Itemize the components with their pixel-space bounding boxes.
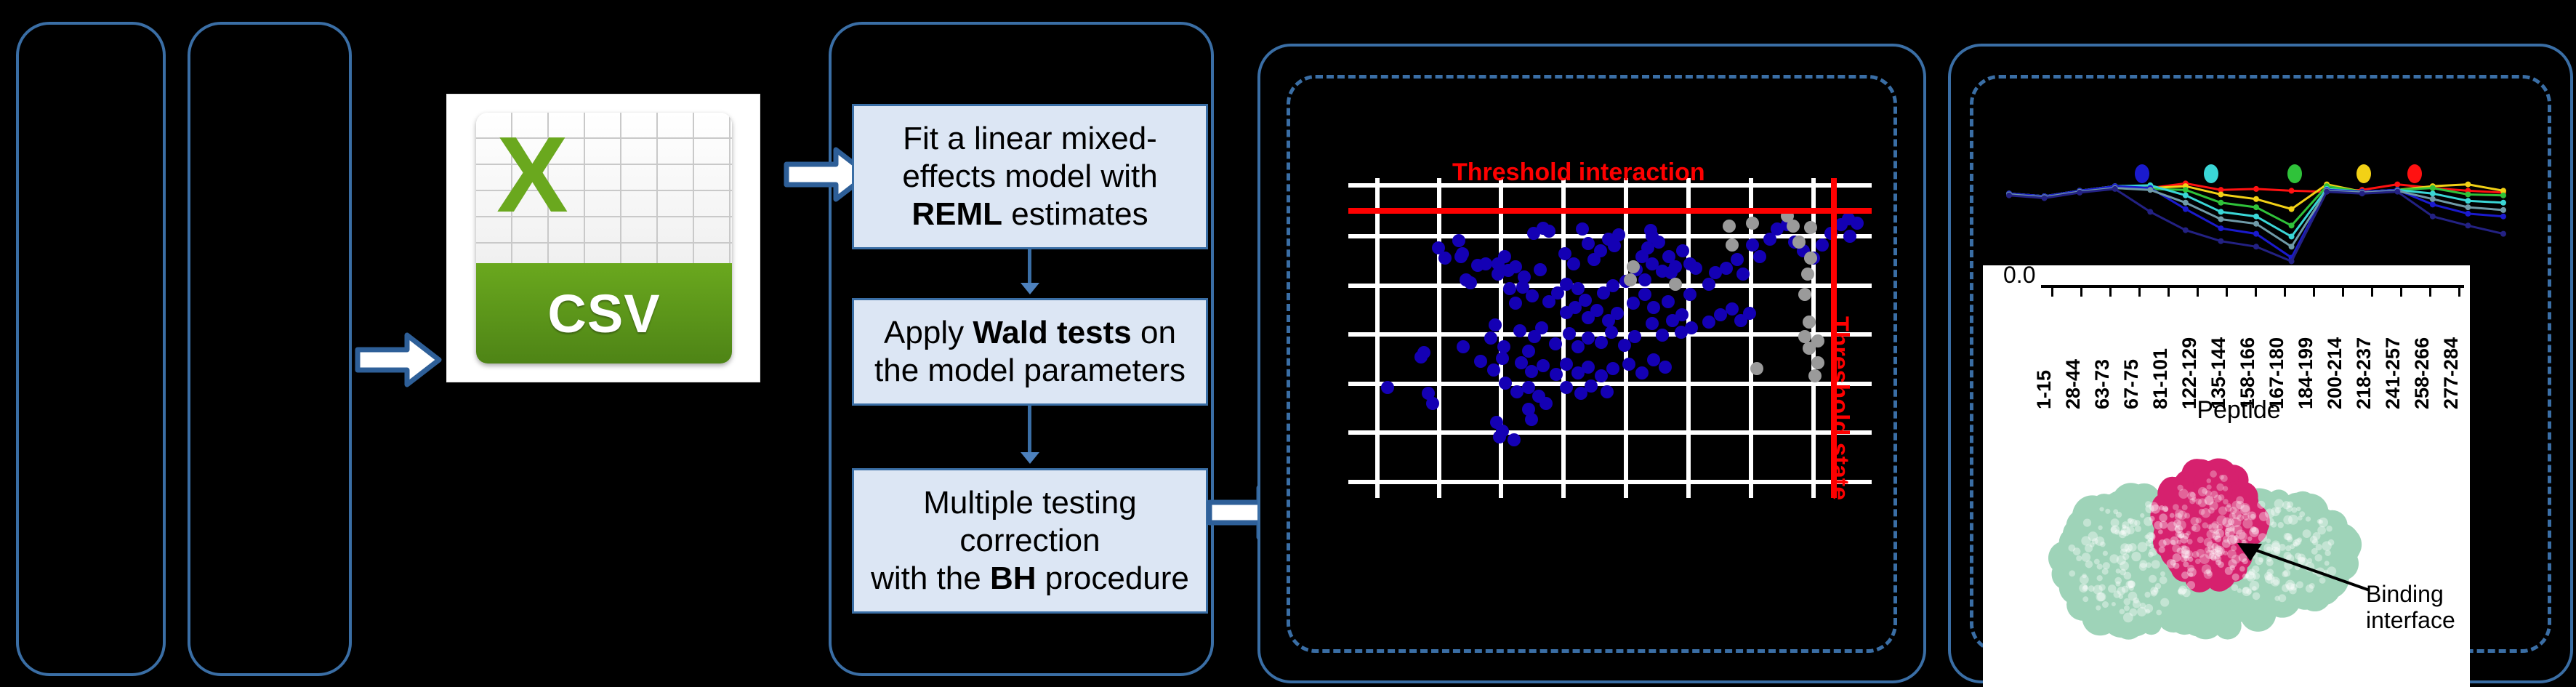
series-point [2465,204,2471,210]
series-point [2253,214,2259,220]
surface-blob [2103,562,2110,569]
peptide-tick-label: 277-284 [2440,337,2463,409]
axis-tick [2400,288,2402,297]
surface-blob [2236,530,2246,540]
surface-blob [2154,521,2162,530]
surface-blob [2082,596,2088,602]
surface-blob [2258,533,2267,542]
surface-blob [2180,546,2184,550]
surface-blob [2096,606,2101,611]
surface-blob [2097,592,2106,601]
axis-tick [2429,288,2431,297]
axis-tick [2168,288,2170,297]
surface-blob [2288,515,2298,525]
series-point [2183,187,2189,193]
y-axis-tick-label: 0.0 [2003,262,2035,289]
series-point [2218,216,2223,222]
surface-blob [2215,545,2222,553]
surface-blob [2266,575,2272,581]
surface-blob [2094,559,2100,565]
surface-blob [2266,518,2274,526]
surface-blob [2231,555,2241,564]
surface-blob [2253,592,2261,600]
surface-blob [2225,528,2231,534]
surface-blob [2246,571,2255,581]
series-point [2430,190,2436,196]
series-point [2183,228,2189,233]
surface-blob [2173,504,2179,510]
surface-blob [2285,545,2291,551]
peptide-axis-ticks [2041,288,2464,298]
axis-tick [2138,288,2141,297]
series-point [2218,225,2223,231]
surface-blob [2223,486,2228,491]
step-fit-model-box[interactable]: Fit a linear mixed- effects model with R… [852,104,1208,249]
surface-blob [2242,518,2253,529]
surface-blob [2298,579,2331,611]
surface-blob [2149,544,2154,548]
series-point [2394,189,2400,195]
csv-file-icon: X CSV [476,113,732,363]
surface-blob [2204,570,2213,579]
surface-blob [2274,499,2284,508]
surface-blob [2218,507,2227,515]
series-point [2500,200,2506,206]
surface-blob [2196,518,2202,523]
surface-blob [2202,522,2208,529]
surface-blob [2207,485,2212,490]
surface-blob [2199,509,2205,515]
series-point [2359,190,2365,196]
surface-blob [2187,565,2194,572]
step-multiple-testing-text: Multiple testing correction with the BH … [871,484,1189,598]
series-point [2289,258,2295,264]
surface-blob [2223,499,2229,505]
series-point [2500,231,2506,237]
surface-blob [2184,513,2190,518]
axis-tick [2255,288,2257,297]
surface-blob [2139,560,2147,568]
surface-blob [2138,542,2148,553]
surface-blob [2088,531,2098,541]
series-point [2289,206,2295,212]
surface-blob [2197,537,2204,543]
surface-blob [2182,505,2188,510]
surface-blob [2127,526,2135,534]
series-point [2218,191,2223,197]
surface-blob [2293,539,2300,547]
series-point [2112,186,2118,192]
series-point [2218,200,2223,206]
series-point [2183,193,2189,198]
peptide-tick-label: 241-257 [2382,337,2404,409]
surface-blob [2128,581,2135,588]
connector-arrowhead-bh [1021,452,1039,464]
surface-blob [2241,606,2261,626]
surface-blob [2075,578,2113,616]
surface-blob [2278,522,2284,528]
surface-blob [2198,498,2207,507]
series-point [2253,231,2259,237]
surface-blob [2246,589,2252,595]
surface-blob [2082,585,2088,591]
surface-blob [2122,524,2126,529]
series-point [2500,207,2506,213]
protein-peptide-surface-render [2028,436,2406,654]
axis-tick [2284,288,2286,297]
surface-blob [2102,601,2109,608]
surface-blob [2072,497,2112,536]
panel-1-empty[interactable] [16,22,166,676]
surface-blob [2190,492,2196,498]
surface-blob [2149,575,2157,583]
series-point [2289,222,2295,228]
axis-tick [2226,288,2228,297]
surface-blob [2144,592,2150,598]
surface-blob [2163,538,2170,545]
surface-blob [2247,537,2252,541]
surface-blob [2210,470,2217,478]
legend-dot-series-green [2287,164,2302,183]
peptide-tick-label: 258-266 [2411,337,2434,409]
surface-blob [2187,539,2193,545]
surface-blob [2123,612,2133,622]
series-point [2289,233,2295,239]
surface-blob [2173,563,2180,569]
surface-blob [2100,542,2106,547]
surface-blob [2250,581,2260,591]
surface-blob [2295,553,2301,559]
surface-blob [2229,507,2237,514]
series-point [2289,188,2295,193]
legend-dot-series-blue [2135,164,2149,183]
surface-blob [2174,526,2180,532]
surface-blob [2191,526,2196,531]
surface-blob [2307,558,2312,563]
surface-blob [2216,483,2223,491]
surface-blob [2159,505,2164,510]
surface-blob [2210,491,2218,498]
surface-blob [2122,529,2128,534]
surface-blob [2124,606,2130,611]
surface-blob [2068,545,2075,552]
surface-blob [2186,531,2191,535]
series-point [2430,196,2436,202]
surface-blob [2159,513,2167,521]
surface-blob [2156,610,2162,616]
series-point [2465,211,2471,217]
series-point [2500,193,2506,198]
surface-blob [2122,586,2129,593]
series-point [2042,196,2048,201]
surface-blob [2149,516,2155,522]
surface-blob [2097,575,2103,581]
axis-tick [2342,288,2344,297]
surface-blob [2315,554,2322,561]
surface-blob [2319,577,2326,584]
surface-blob [2098,526,2102,530]
series-point [2253,244,2259,249]
surface-blob [2135,526,2141,532]
surface-blob [2192,551,2199,558]
series-point [2253,186,2259,192]
surface-blob [2173,553,2181,562]
surface-blob [2148,538,2153,543]
surface-blob [2113,590,2120,598]
surface-blob [2236,497,2244,505]
surface-blob [2266,556,2272,562]
axis-tick [2109,288,2112,297]
surface-blob [2158,529,2163,534]
surface-blob [2258,558,2263,563]
surface-blob [2128,518,2134,525]
surface-blob [2178,489,2189,499]
surface-blob [2299,511,2305,517]
surface-blob [2287,502,2293,508]
binding-interface-annotation: Binding interface [2366,582,2455,634]
connector-model-to-wald [1028,249,1031,287]
surface-blob [2283,569,2290,576]
peptide-tick-label: 63-73 [2091,359,2114,409]
arrow-input-to-csv [355,331,442,389]
peptide-tick-labels: 1-1528-4463-7367-7581-101122-129135-1441… [2041,300,2464,394]
surface-blob [2152,560,2160,569]
surface-blob [2170,513,2175,518]
surface-blob [2274,596,2279,601]
surface-blob [2116,512,2122,518]
csv-x-letter: X [496,121,568,229]
surface-blob [2290,584,2298,591]
surface-blob [2120,608,2125,614]
scatter-plot[interactable] [1348,178,1872,498]
series-point [2324,189,2330,195]
surface-blob [2120,569,2126,576]
surface-blob [2239,566,2245,572]
surface-blob [2326,526,2332,531]
connector-arrowhead-wald [1021,283,1039,294]
series-point [2465,198,2471,204]
surface-blob [2085,561,2093,569]
step-wald-tests-box[interactable]: Apply Wald tests on the model parameters [852,298,1208,406]
series-point [2006,193,2012,198]
connector-wald-to-bh [1028,406,1031,457]
surface-blob [2223,551,2228,555]
surface-blob [2148,552,2154,558]
series-point [2253,221,2259,227]
surface-blob [2221,475,2228,482]
surface-blob [2237,514,2244,521]
surface-blob [2082,574,2086,578]
series-point [2253,204,2259,210]
series-point [2430,201,2436,207]
surface-blob [2271,542,2281,552]
surface-blob [2257,501,2265,509]
surface-blob [2319,520,2323,524]
surface-blob [2076,555,2082,561]
step-wald-tests-text: Apply Wald tests on the model parameters [874,314,1186,390]
step-multiple-testing-box[interactable]: Multiple testing correction with the BH … [852,468,1208,614]
binding-interface-line-1: Binding [2366,582,2455,608]
series-point [2147,187,2153,193]
protein-structure-svg [2028,436,2406,654]
csv-extension-label: CSV [547,283,660,345]
peptide-tick-label: 28-44 [2062,359,2085,409]
axis-tick [2458,288,2460,297]
panel-2-data-input[interactable] [188,22,352,676]
surface-blob [2306,516,2311,521]
surface-blob [2083,519,2091,527]
surface-blob [2099,584,2106,590]
surface-blob [2149,502,2159,512]
csv-extension-band: CSV [476,263,732,363]
surface-blob [2140,513,2144,518]
surface-blob [2325,550,2330,556]
surface-blob [2112,602,2116,606]
surface-blob [2099,507,2104,511]
surface-blob [2214,555,2221,563]
axis-tick [2313,288,2315,297]
surface-blob [2191,497,2197,502]
legend-dot-series-yellow [2356,164,2371,183]
surface-blob [2181,571,2189,579]
surface-blob [2175,513,2183,521]
axis-tick [2051,288,2053,297]
surface-blob [2303,529,2311,538]
series-point [2183,206,2189,212]
surface-blob [2178,589,2183,594]
surface-blob [2175,531,2182,537]
surface-blob [2160,576,2168,584]
surface-blob [2111,525,2120,534]
axis-tick [2197,288,2199,297]
series-point [2183,200,2189,206]
surface-blob [2103,551,2108,556]
series-point [2253,196,2259,202]
series-point [2218,209,2223,214]
surface-blob [2105,509,2110,514]
surface-blob [2177,539,2182,545]
surface-blob [2232,574,2239,581]
series-point [2465,191,2471,197]
axis-tick [2080,288,2082,297]
surface-blob [2122,553,2129,560]
surface-blob [2306,584,2314,592]
binding-interface-line-2: interface [2366,608,2455,634]
surface-blob [2216,515,2226,526]
surface-blob [2242,558,2248,564]
surface-blob [2197,601,2218,622]
threshold-interaction-label: Threshold interaction [1452,158,1705,187]
peptide-axis-title: Peptide [2130,396,2348,425]
surface-blob [2131,552,2141,561]
surface-blob [2069,570,2075,576]
series-point [2218,238,2223,244]
surface-blob [2128,543,2137,552]
surface-blob [2218,561,2224,568]
series-point [2465,222,2471,228]
surface-blob [2231,584,2239,591]
surface-blob [2172,545,2180,553]
surface-blob [2250,526,2257,533]
surface-blob [2097,563,2103,569]
surface-blob [2160,571,2165,576]
surface-blob [2284,533,2291,540]
series-point [2289,244,2295,249]
surface-blob [2213,529,2219,534]
surface-blob [2115,581,2120,586]
series-point [2430,214,2436,220]
chart-legend [1993,161,2531,183]
surface-blob [2316,544,2322,550]
surface-blob [2187,581,2195,589]
surface-blob [2082,553,2091,562]
surface-blob [2160,598,2169,607]
surface-blob [2137,607,2146,616]
axis-tick [2371,288,2373,297]
surface-blob [2209,550,2215,556]
surface-blob [2234,538,2239,543]
surface-blob [2310,536,2317,543]
threshold-state-label: Threshold state [1825,316,1853,500]
legend-dot-series-cyan [2204,164,2218,183]
series-point [2147,209,2153,214]
legend-dot-series-red [2407,164,2422,183]
surface-blob [2207,478,2212,483]
series-point [2430,185,2436,191]
surface-blob [2208,507,2215,514]
surface-blob [2155,583,2161,589]
surface-blob [2291,507,2297,513]
surface-blob [2241,503,2250,513]
series-point [2077,190,2082,196]
surface-blob [2159,547,2165,553]
surface-blob [2123,598,2130,606]
surface-blob [2322,541,2331,550]
step-fit-model-text: Fit a linear mixed- effects model with R… [902,120,1157,233]
surface-blob [2185,550,2193,558]
peptide-tick-label: 1-15 [2033,370,2056,409]
scatter-plot-svg [1348,178,1872,498]
peptide-tick-label: 218-237 [2353,337,2375,409]
series-point [2500,214,2506,220]
surface-blob [2325,561,2330,566]
